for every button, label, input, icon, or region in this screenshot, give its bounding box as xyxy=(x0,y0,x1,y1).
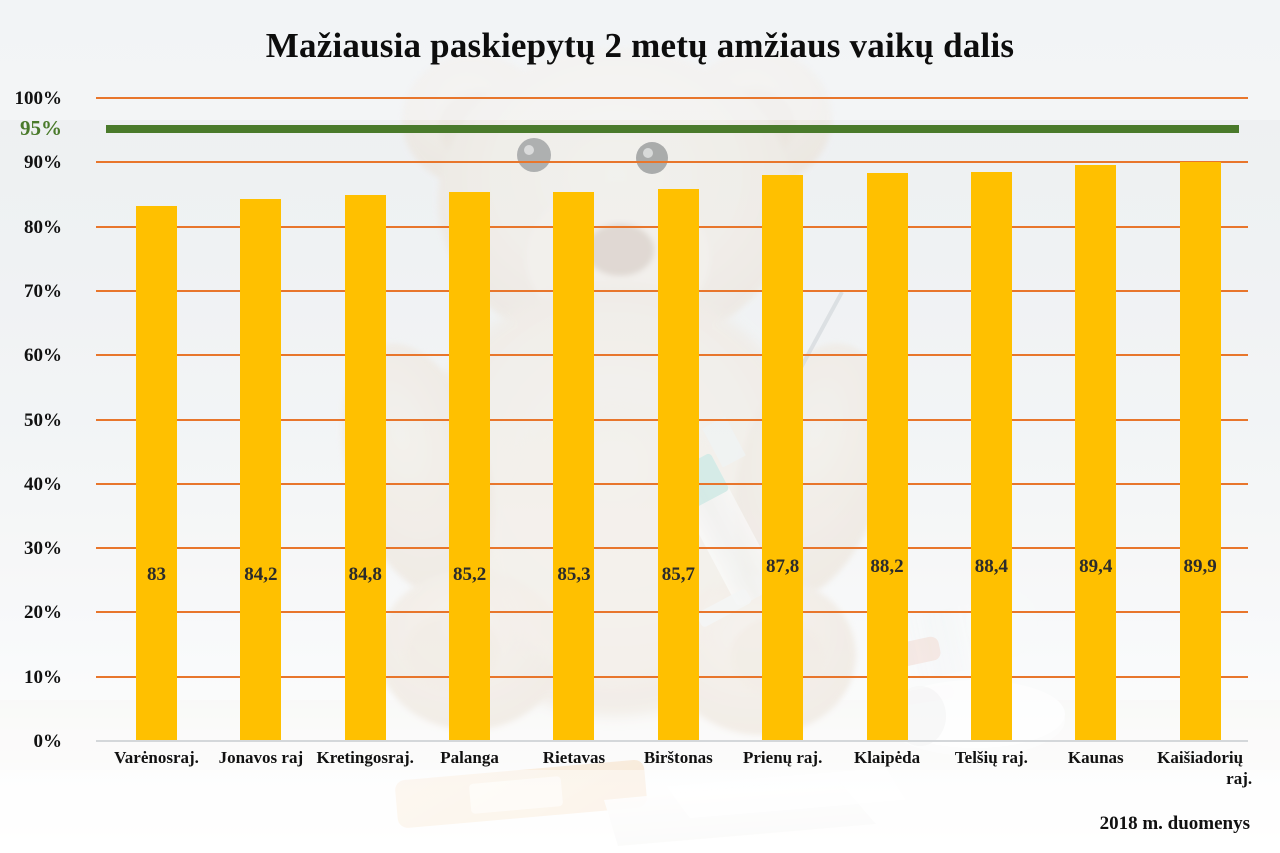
x-category-label: Prienų raj. xyxy=(727,748,839,769)
y-tick-60: 60% xyxy=(0,346,62,365)
x-category-label: Varėnosraj. xyxy=(101,748,213,769)
y-tick-0: 0% xyxy=(0,732,62,751)
x-category-label: Jonavos raj xyxy=(205,748,317,769)
y-tick-50: 50% xyxy=(0,411,62,430)
data-label: 85,3 xyxy=(534,565,614,584)
y-tick-80: 80% xyxy=(0,218,62,237)
y-tick-20: 20% xyxy=(0,603,62,622)
data-label: 84,2 xyxy=(221,565,301,584)
bar-telsiu[interactable] xyxy=(971,172,1012,740)
data-label: 89,9 xyxy=(1160,557,1240,576)
data-label: 83 xyxy=(117,565,197,584)
source-footnote: 2018 m. duomenys xyxy=(1100,813,1250,835)
bar-klaipeda[interactable] xyxy=(867,173,908,740)
target-reference-line-95 xyxy=(106,125,1239,133)
data-label: 88,2 xyxy=(847,557,927,576)
gridline-90 xyxy=(96,161,1248,163)
gridline-100 xyxy=(96,97,1248,99)
bar-kaunas[interactable] xyxy=(1075,165,1116,740)
x-category-label: Klaipėda xyxy=(831,748,943,769)
y-tick-40: 40% xyxy=(0,475,62,494)
y-tick-95-target: 95% xyxy=(0,118,62,139)
bar-kretingos[interactable] xyxy=(345,195,386,740)
data-label: 85,2 xyxy=(430,565,510,584)
plot-area: 100% 95% 90% 80% 70% 60% 50% 40% 30% 20%… xyxy=(100,97,1248,740)
y-tick-90: 90% xyxy=(0,153,62,172)
bar-kaisiadoriu[interactable] xyxy=(1180,162,1221,740)
y-tick-30: 30% xyxy=(0,539,62,558)
x-category-label: Kaišiadoriųraj. xyxy=(1144,748,1256,789)
x-axis-line xyxy=(96,740,1248,742)
data-label: 85,7 xyxy=(638,565,718,584)
y-tick-70: 70% xyxy=(0,282,62,301)
data-label: 88,4 xyxy=(951,557,1031,576)
bar-birstonas[interactable] xyxy=(658,189,699,740)
data-label: 89,4 xyxy=(1056,557,1136,576)
chart-container: Mažiausia paskiepytų 2 metų amžiaus vaik… xyxy=(0,0,1280,853)
bar-palanga[interactable] xyxy=(449,192,490,740)
bar-prienu[interactable] xyxy=(762,175,803,740)
x-category-label: Palanga xyxy=(414,748,526,769)
x-category-label: Kretingosraj. xyxy=(309,748,421,769)
data-label: 87,8 xyxy=(743,557,823,576)
data-label: 84,8 xyxy=(325,565,405,584)
x-category-label: Birštonas xyxy=(622,748,734,769)
y-tick-100: 100% xyxy=(0,89,62,108)
x-category-label: Kaunas xyxy=(1040,748,1152,769)
y-tick-10: 10% xyxy=(0,668,62,687)
bar-varenos[interactable] xyxy=(136,206,177,740)
x-category-label: Rietavas xyxy=(518,748,630,769)
x-category-label: Telšių raj. xyxy=(935,748,1047,769)
bar-jonavos[interactable] xyxy=(240,199,281,740)
page-title: Mažiausia paskiepytų 2 metų amžiaus vaik… xyxy=(0,26,1280,66)
bar-rietavas[interactable] xyxy=(553,192,594,740)
